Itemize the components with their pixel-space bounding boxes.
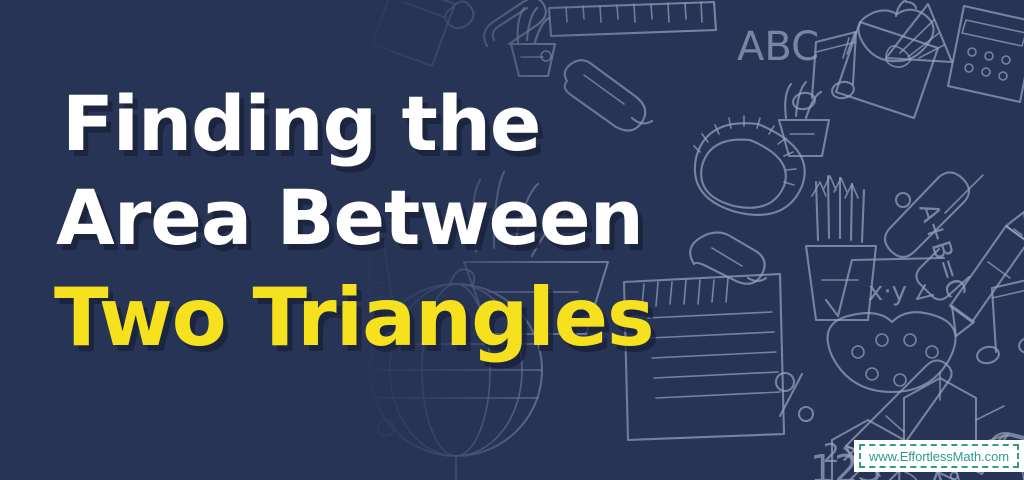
svg-text:A+B=C: A+B=C [912,200,971,302]
plus-doodle [445,1,473,28]
calculator-doodle [948,6,1024,102]
percent-doodle [776,373,813,421]
palette-doodle [828,312,956,392]
title-line-1: Finding the [56,78,756,170]
paperclip-doodle [484,0,546,46]
music-note-doodle [976,278,1024,365]
music-note-doodle [792,32,856,111]
highlighter-doodle [885,172,983,299]
title-line-3: Two Triangles [48,266,756,370]
book-doodle [194,476,302,480]
ruler-doodle [118,446,254,480]
potted-plant-doodle [511,8,555,76]
eraser-doodle [378,420,394,436]
equation-sum-doodle: A+B=C [912,200,971,302]
watermark-badge[interactable]: www.EffortlessMath.com [854,440,1024,472]
banner-root: ABC [0,0,1024,480]
book-doodle [836,22,938,118]
apple-doodle [858,0,933,61]
folder-doodle [372,0,455,66]
pyramid-doodle [886,4,952,62]
pencil-cup-doodle [806,176,876,320]
ruler-doodle [541,2,716,61]
pencil-doodle [950,212,1024,336]
potted-plant-doodle [779,82,829,156]
title-line-2: Area Between [50,170,756,266]
abc-letters-doodle: ABC [737,24,819,70]
watermark-url: www.EffortlessMath.com [869,449,1009,464]
page-title: Finding the Area Between Two Triangles [56,78,756,370]
svg-text:x·y: x·y [868,277,907,307]
eraser-doodle [896,193,910,207]
radical-doodle: x·y [826,258,944,316]
